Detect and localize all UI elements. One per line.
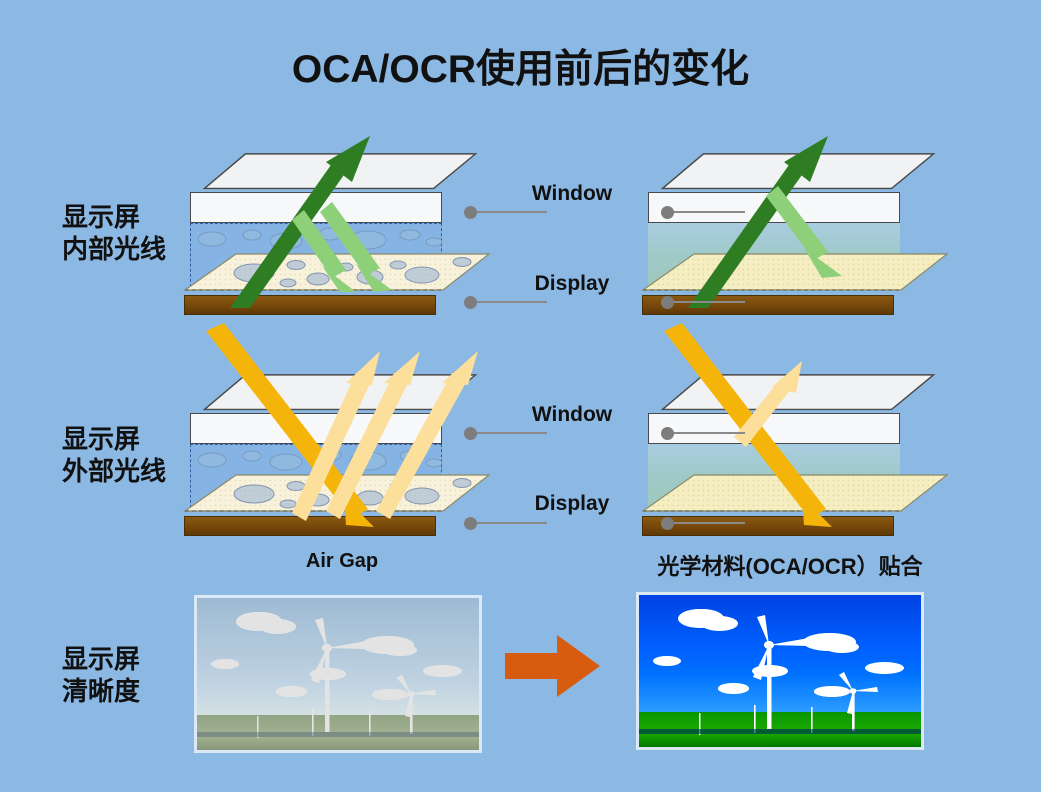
arrow-internal-reflection-1	[766, 186, 842, 278]
label-window-row1: Window	[462, 182, 682, 206]
connector-display-left-row1	[474, 301, 547, 303]
photo-after-vivid	[636, 592, 924, 750]
connector-display-left-row2	[474, 522, 547, 524]
connector-window-right-row2	[672, 432, 745, 434]
light-arrows-row1-right	[638, 100, 958, 330]
light-arrows-row2-left	[180, 321, 500, 551]
panel-row2-left-airgap	[190, 366, 490, 551]
diagram-canvas: OCA/OCR使用前后的变化 显示屏 内部光线 显示屏 外部光线 显示屏 清晰度	[0, 0, 1041, 792]
connector-dot-window-right-row2	[661, 427, 674, 440]
connector-dot-display-left-row2	[464, 517, 477, 530]
light-arrows-row1-left	[180, 100, 500, 330]
page-title: OCA/OCR使用前后的变化	[0, 38, 1041, 94]
panel-row1-left-airgap	[190, 145, 490, 330]
connector-window-left-row1	[474, 211, 547, 213]
connector-dot-window-right-row1	[661, 206, 674, 219]
connector-display-right-row2	[672, 522, 745, 524]
connector-dot-display-right-row2	[661, 517, 674, 530]
label-display-row1: Display	[462, 272, 682, 296]
connector-display-right-row1	[672, 301, 745, 303]
label-display-row2: Display	[462, 492, 682, 516]
transition-right-arrow	[505, 633, 601, 699]
caption-oca-bonded: 光学材料(OCA/OCR）贴合	[620, 549, 960, 581]
label-window-row2: Window	[462, 403, 682, 427]
caption-air-gap: Air Gap	[212, 550, 472, 573]
connector-dot-window-left-row1	[464, 206, 477, 219]
arrow-emitted-light-out	[688, 136, 828, 308]
connector-window-left-row2	[474, 432, 547, 434]
connector-dot-display-right-row1	[661, 296, 674, 309]
light-arrows-row2-right	[638, 321, 958, 551]
connector-dot-display-left-row1	[464, 296, 477, 309]
turbines-illustration	[639, 595, 921, 747]
connector-dot-window-left-row2	[464, 427, 477, 440]
turbines-illustration	[197, 598, 479, 750]
connector-window-right-row1	[672, 211, 745, 213]
photo-before-washed-out	[194, 595, 482, 753]
